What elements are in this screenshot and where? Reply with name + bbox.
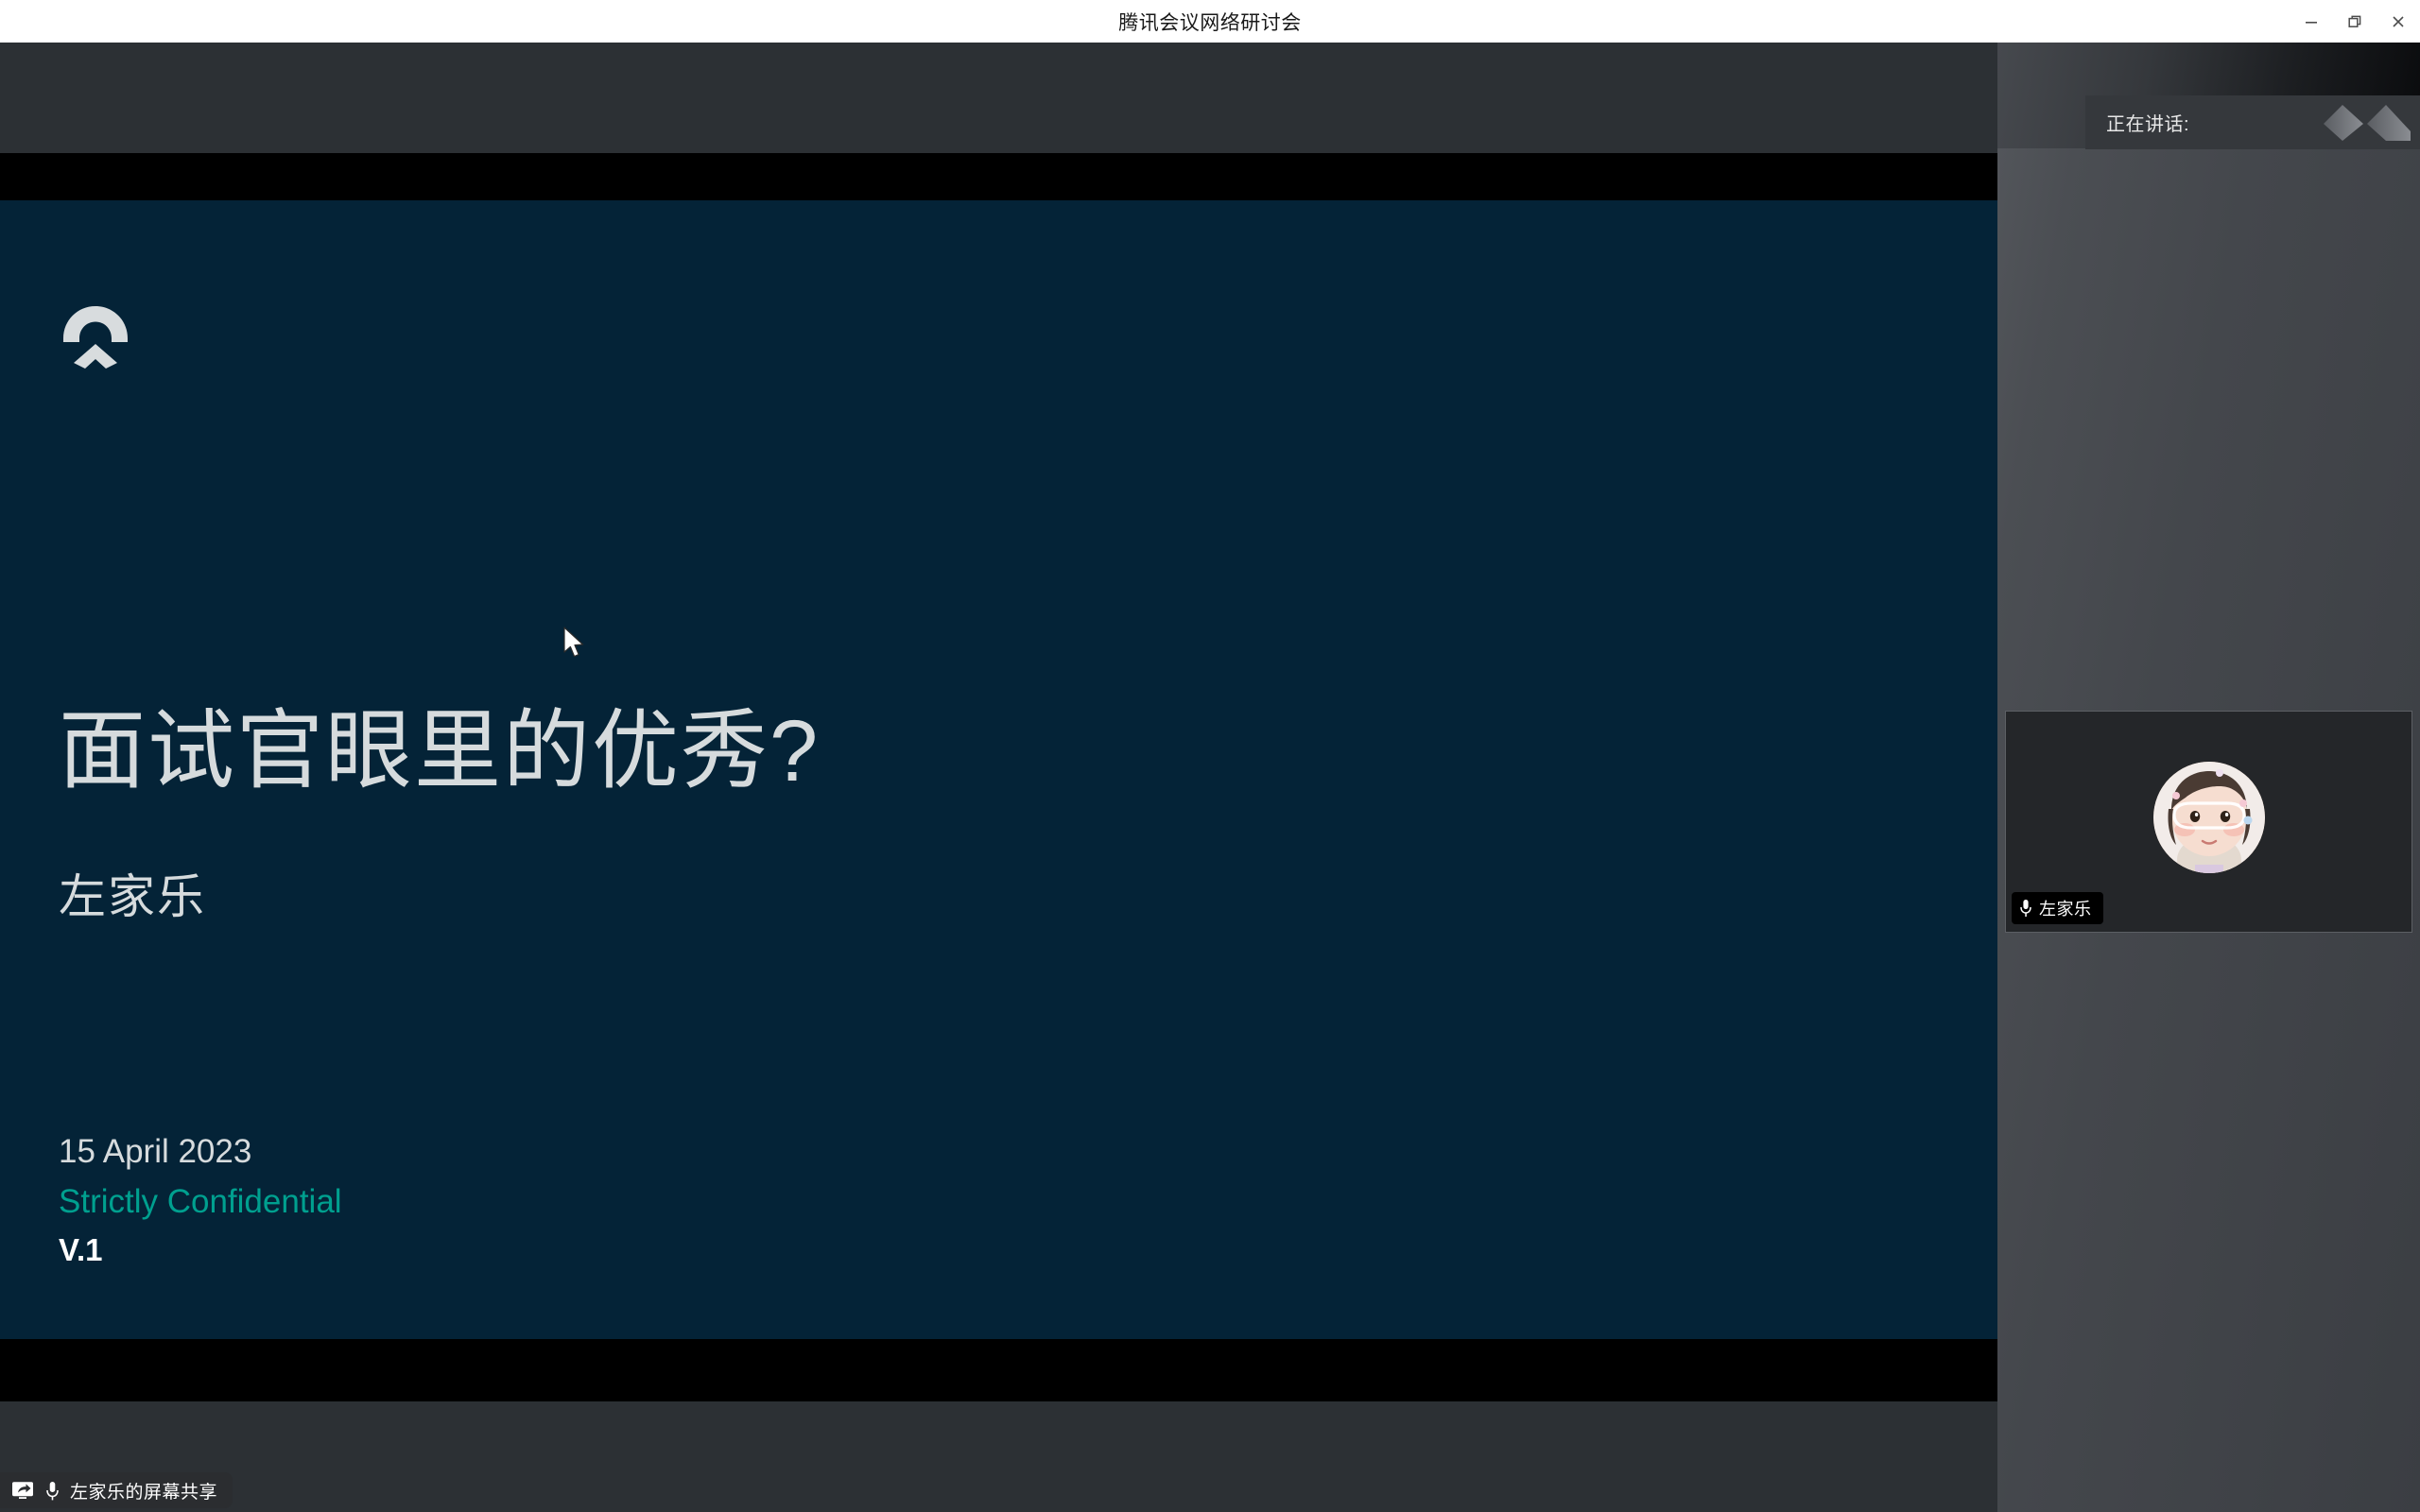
participant-avatar <box>2153 762 2265 873</box>
slide-title: 面试官眼里的优秀? <box>59 706 820 798</box>
active-speaker-badge: 正在讲话: <box>2085 95 2420 149</box>
participant-video-tile[interactable]: 左家乐 <box>2005 711 2412 933</box>
restore-icon <box>2346 13 2363 30</box>
slide-confidentiality: Strictly Confidential <box>59 1177 342 1227</box>
microphone-icon <box>2019 899 2032 918</box>
nio-logo-icon <box>59 304 132 370</box>
restore-button[interactable] <box>2333 0 2377 43</box>
letterbox-top <box>0 153 1997 200</box>
screen-share-status-bar[interactable]: 左家乐的屏幕共享 <box>0 1472 233 1508</box>
shared-screen-region[interactable]: 面试官眼里的优秀? 左家乐 15 April 2023 Strictly Con… <box>0 43 1997 1401</box>
participants-panel: 正在讲话: <box>1997 43 2420 1512</box>
close-icon <box>2390 13 2407 30</box>
slide-version: V.1 <box>59 1227 342 1274</box>
active-speaker-label: 正在讲话: <box>2106 109 2189 136</box>
participant-name: 左家乐 <box>2039 896 2092 920</box>
slide-author: 左家乐 <box>59 859 206 927</box>
microphone-icon <box>45 1481 60 1501</box>
slide-meta-block: 15 April 2023 Strictly Confidential V.1 <box>59 1126 342 1275</box>
window-controls <box>2290 0 2420 43</box>
letterbox-bottom <box>0 1339 1997 1401</box>
participant-name-badge: 左家乐 <box>2012 892 2103 924</box>
minimize-icon <box>2303 13 2320 30</box>
window-title: 腾讯会议网络研讨会 <box>1118 8 1302 36</box>
tencent-meeting-mark-icon <box>2320 103 2414 143</box>
meeting-window-body: 面试官眼里的优秀? 左家乐 15 April 2023 Strictly Con… <box>0 43 2420 1512</box>
screen-share-status-label: 左家乐的屏幕共享 <box>70 1478 217 1503</box>
close-button[interactable] <box>2377 0 2420 43</box>
slide-date: 15 April 2023 <box>59 1126 342 1177</box>
screen-share-icon <box>11 1481 34 1500</box>
minimize-button[interactable] <box>2290 0 2333 43</box>
window-title-bar: 腾讯会议网络研讨会 <box>0 0 2420 43</box>
presentation-slide: 面试官眼里的优秀? 左家乐 15 April 2023 Strictly Con… <box>0 200 1997 1339</box>
